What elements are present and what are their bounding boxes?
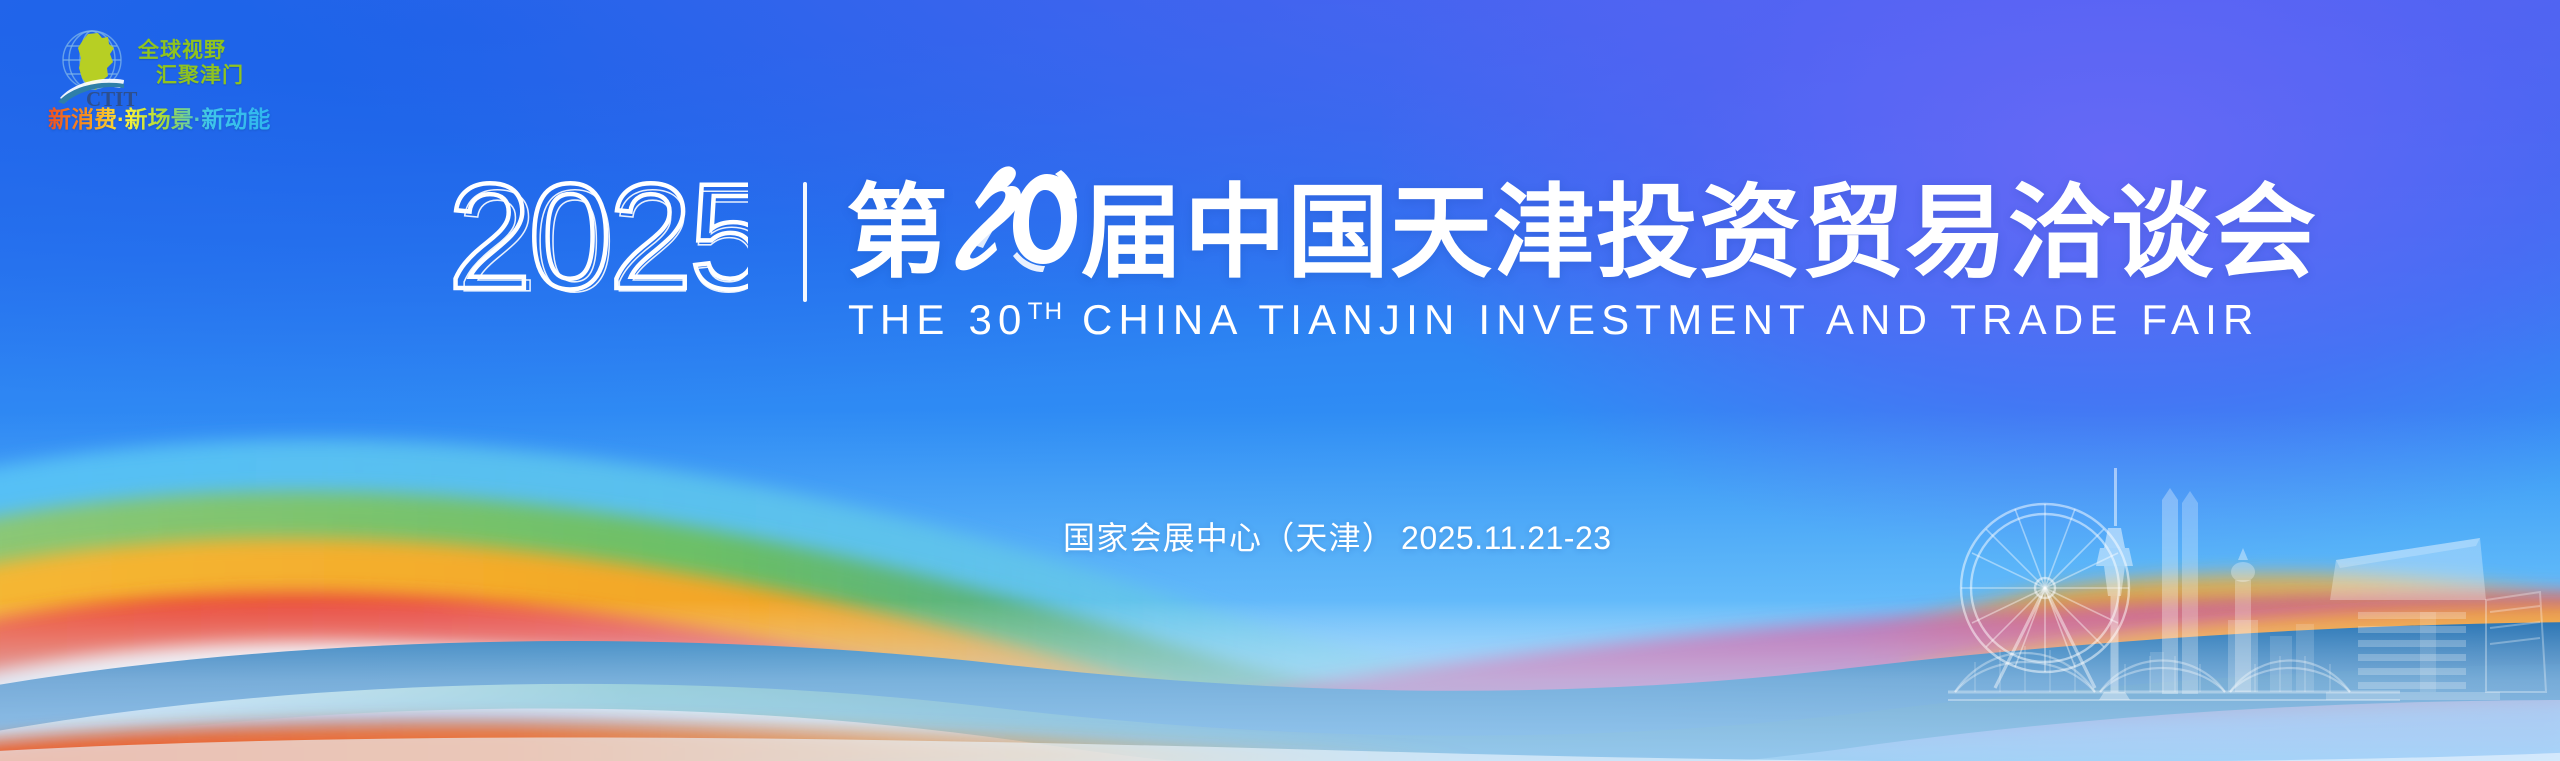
logo-slogan-line2: 汇聚津门 — [138, 63, 244, 88]
brush-30-graphic — [951, 164, 1079, 274]
chinese-title: 第 届中国天津投资贸易洽谈会 — [846, 164, 2317, 291]
year-outline-inner: 2025 — [457, 170, 748, 320]
english-title-ordinal: TH — [1028, 298, 1064, 325]
chinese-title-suffix: 届中国天津投资贸易洽谈会 — [1081, 174, 2317, 293]
title-divider — [803, 182, 807, 302]
english-title: THE 30TH CHINA TIANJIN INVESTMENT AND TR… — [848, 296, 2260, 344]
english-title-prefix: THE 30 — [848, 296, 1028, 343]
logo-tagline: 新消费·新场景·新动能 — [48, 100, 270, 134]
logo-slogan-line1: 全球视野 — [138, 39, 226, 62]
logo-slogan: 全球视野 汇聚津门 — [138, 38, 244, 88]
venue-place: 国家会展中心（天津） — [1063, 519, 1395, 557]
venue-date-line: 国家会展中心（天津）2025.11.21-23 — [1063, 513, 1612, 559]
chinese-title-prefix: 第 — [846, 174, 949, 293]
ctit-globe-logo-icon: CTIT — [52, 24, 142, 110]
ctit-logo[interactable]: CTIT 全球视野 汇聚津门 新消费·新场景·新动能 — [42, 20, 282, 140]
venue-date: 2025.11.21-23 — [1401, 520, 1612, 556]
decorative-artwork — [0, 0, 2560, 761]
english-title-suffix: CHINA TIANJIN INVESTMENT AND TRADE FAIR — [1082, 296, 2260, 343]
headline-block: 2025 2025 第 届中国天津投资贸易洽谈会 THE 30TH CHINA … — [448, 178, 2148, 353]
event-banner: CTIT 全球视野 汇聚津门 新消费·新场景·新动能 2025 2025 第 — [0, 0, 2560, 761]
year-2025-graphic: 2025 2025 — [448, 170, 748, 320]
